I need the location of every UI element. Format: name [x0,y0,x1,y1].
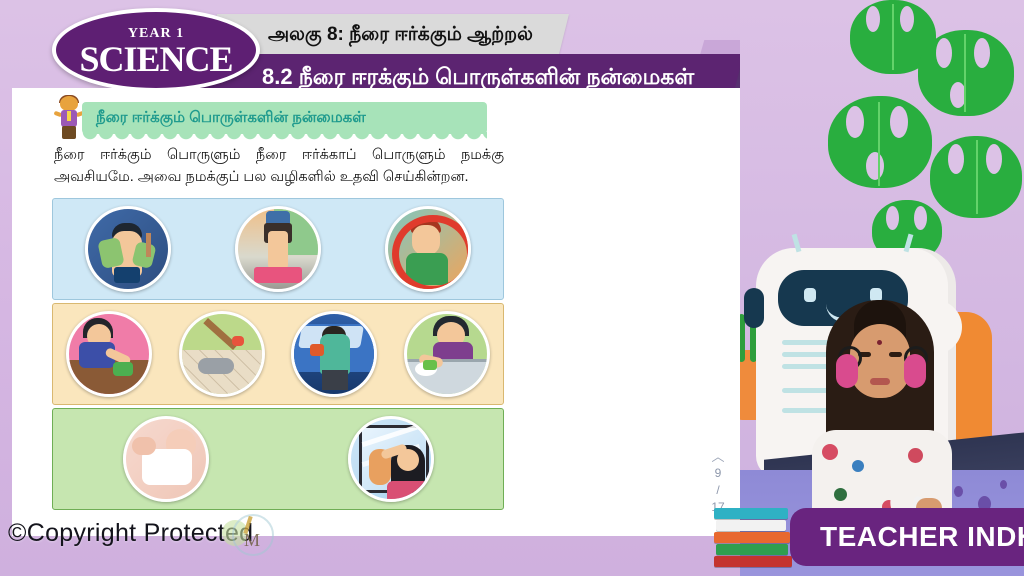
picture-person-mopping-floor [179,311,265,397]
lesson-document-page[interactable]: நீரை ஈர்க்கும் பொருள்களின் நன்மைகள் நீரை… [12,88,740,536]
unit-title-text: அலகு 8: நீரை ஈர்க்கும் ஆற்றல் [268,20,568,50]
watermark-letter: M [244,530,260,551]
lesson-body-text: நீரை ஈர்க்கும் பொருளும் நீரை ஈர்க்காப் ப… [54,144,504,188]
picture-baby-diaper [123,416,209,502]
copyright-notice: ©Copyright Protected [8,516,253,550]
year1-science-logo: YEAR 1 SCIENCE [52,8,260,92]
page-separator: / [716,483,719,497]
picture-person-washing-dishes [404,311,490,397]
picture-row-bathing-drying [52,198,504,300]
picture-woman-cleaning-window [348,416,434,502]
picture-boy-drying-with-towel [85,206,171,292]
section-heading-text: நீரை ஈர்க்கும் பொருள்களின் நன்மைகள் [96,104,496,132]
logo-subject-label: SCIENCE [79,41,232,77]
mascot-character-icon [52,96,86,142]
page-up-chevron-icon[interactable]: ︿ [711,451,724,463]
picture-row-cleaning [52,303,504,405]
book-stack-icon [714,508,794,572]
picture-person-washing-car [291,311,377,397]
current-page-number: 9 [715,466,722,480]
presenter-video-area [740,0,1024,576]
channel-brand-banner: TEACHER INDHU [790,508,1024,566]
channel-brand-text: TEACHER INDHU [820,521,1024,553]
picture-girl-wiping-table [66,311,152,397]
watermark-logo: M [222,512,270,560]
video-frame: அலகு 8: நீரை ஈர்க்கும் ஆற்றல் 8.2 நீரை ஈ… [0,0,1024,576]
picture-row-absorbent-items [52,408,504,510]
picture-person-on-bath-mat [235,206,321,292]
picture-boy-wiping-face [385,206,471,292]
